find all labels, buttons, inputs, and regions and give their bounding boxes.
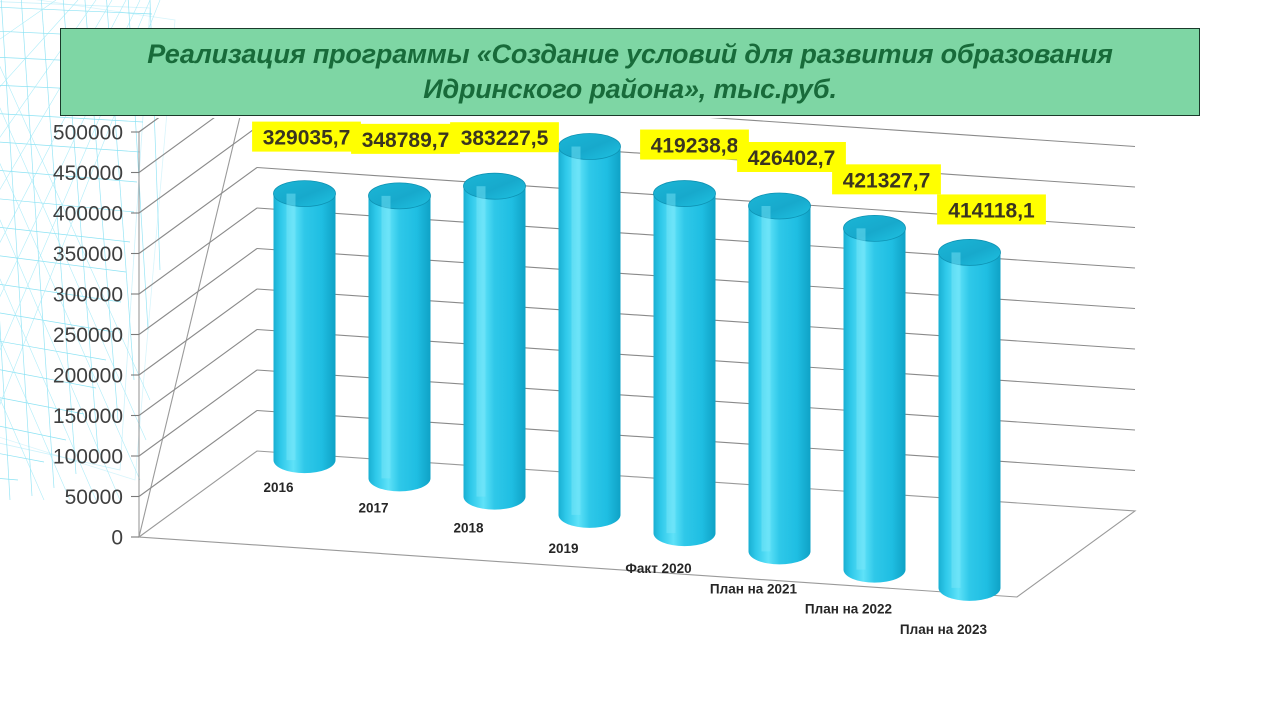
- data-label: 348789,7: [362, 129, 450, 152]
- bar-cylinder[interactable]: [559, 134, 621, 528]
- bar-chart-3d: 0500001000001500002000002500003000003500…: [0, 118, 1280, 720]
- x-axis-category-label: План на 2023: [900, 622, 988, 637]
- bar-cylinder[interactable]: [464, 173, 526, 509]
- bar-series: [274, 134, 1001, 601]
- y-axis-tick-label: 500000: [53, 122, 123, 145]
- x-axis-category-label: 2017: [358, 500, 388, 515]
- y-axis-tick-label: 150000: [53, 405, 123, 428]
- data-label: 421327,7: [843, 169, 931, 192]
- y-axis-tick-label: 450000: [53, 162, 123, 185]
- data-label: 419238,8: [651, 135, 739, 158]
- data-label: 426402,7: [748, 147, 836, 170]
- x-axis-category-label: 2019: [548, 541, 578, 556]
- y-axis-tick-label: 50000: [65, 486, 123, 509]
- y-axis: 0500001000001500002000002500003000003500…: [53, 122, 139, 550]
- x-axis-category-label: 2016: [263, 480, 294, 495]
- data-label: 329035,7: [263, 127, 351, 150]
- y-axis-tick-label: 400000: [53, 203, 123, 226]
- slide-title-box: Реализация программы «Создание условий д…: [60, 28, 1200, 116]
- x-axis-category-label: 2018: [453, 521, 484, 536]
- bar-cylinder[interactable]: [939, 239, 1001, 600]
- data-label: 414118,1: [948, 199, 1035, 222]
- y-axis-tick-label: 200000: [53, 365, 123, 388]
- y-axis-tick-label: 300000: [53, 284, 123, 307]
- y-axis-tick-label: 250000: [53, 324, 123, 347]
- slide-title-line-2: Идринского района», тыс.руб.: [423, 74, 837, 104]
- x-axis-category-label: План на 2021: [710, 581, 798, 596]
- bar-cylinder[interactable]: [274, 181, 336, 474]
- data-label: 383227,5: [461, 127, 549, 150]
- y-axis-tick-label: 0: [111, 527, 123, 550]
- bar-cylinder[interactable]: [654, 181, 716, 547]
- x-axis-category-label: План на 2022: [805, 602, 892, 617]
- slide-canvas: Реализация программы «Создание условий д…: [0, 0, 1280, 720]
- y-axis-tick-label: 350000: [53, 243, 123, 266]
- chart-container: 0500001000001500002000002500003000003500…: [0, 118, 1280, 720]
- bar-cylinder[interactable]: [844, 215, 906, 582]
- bar-cylinder[interactable]: [369, 183, 431, 492]
- slide-title-text: Реализация программы «Создание условий д…: [133, 37, 1126, 106]
- y-axis-tick-label: 100000: [53, 446, 123, 469]
- bar-cylinder[interactable]: [749, 193, 811, 564]
- x-axis-category-label: Факт 2020: [625, 561, 691, 576]
- slide-title-line-1: Реализация программы «Создание условий д…: [147, 39, 1112, 69]
